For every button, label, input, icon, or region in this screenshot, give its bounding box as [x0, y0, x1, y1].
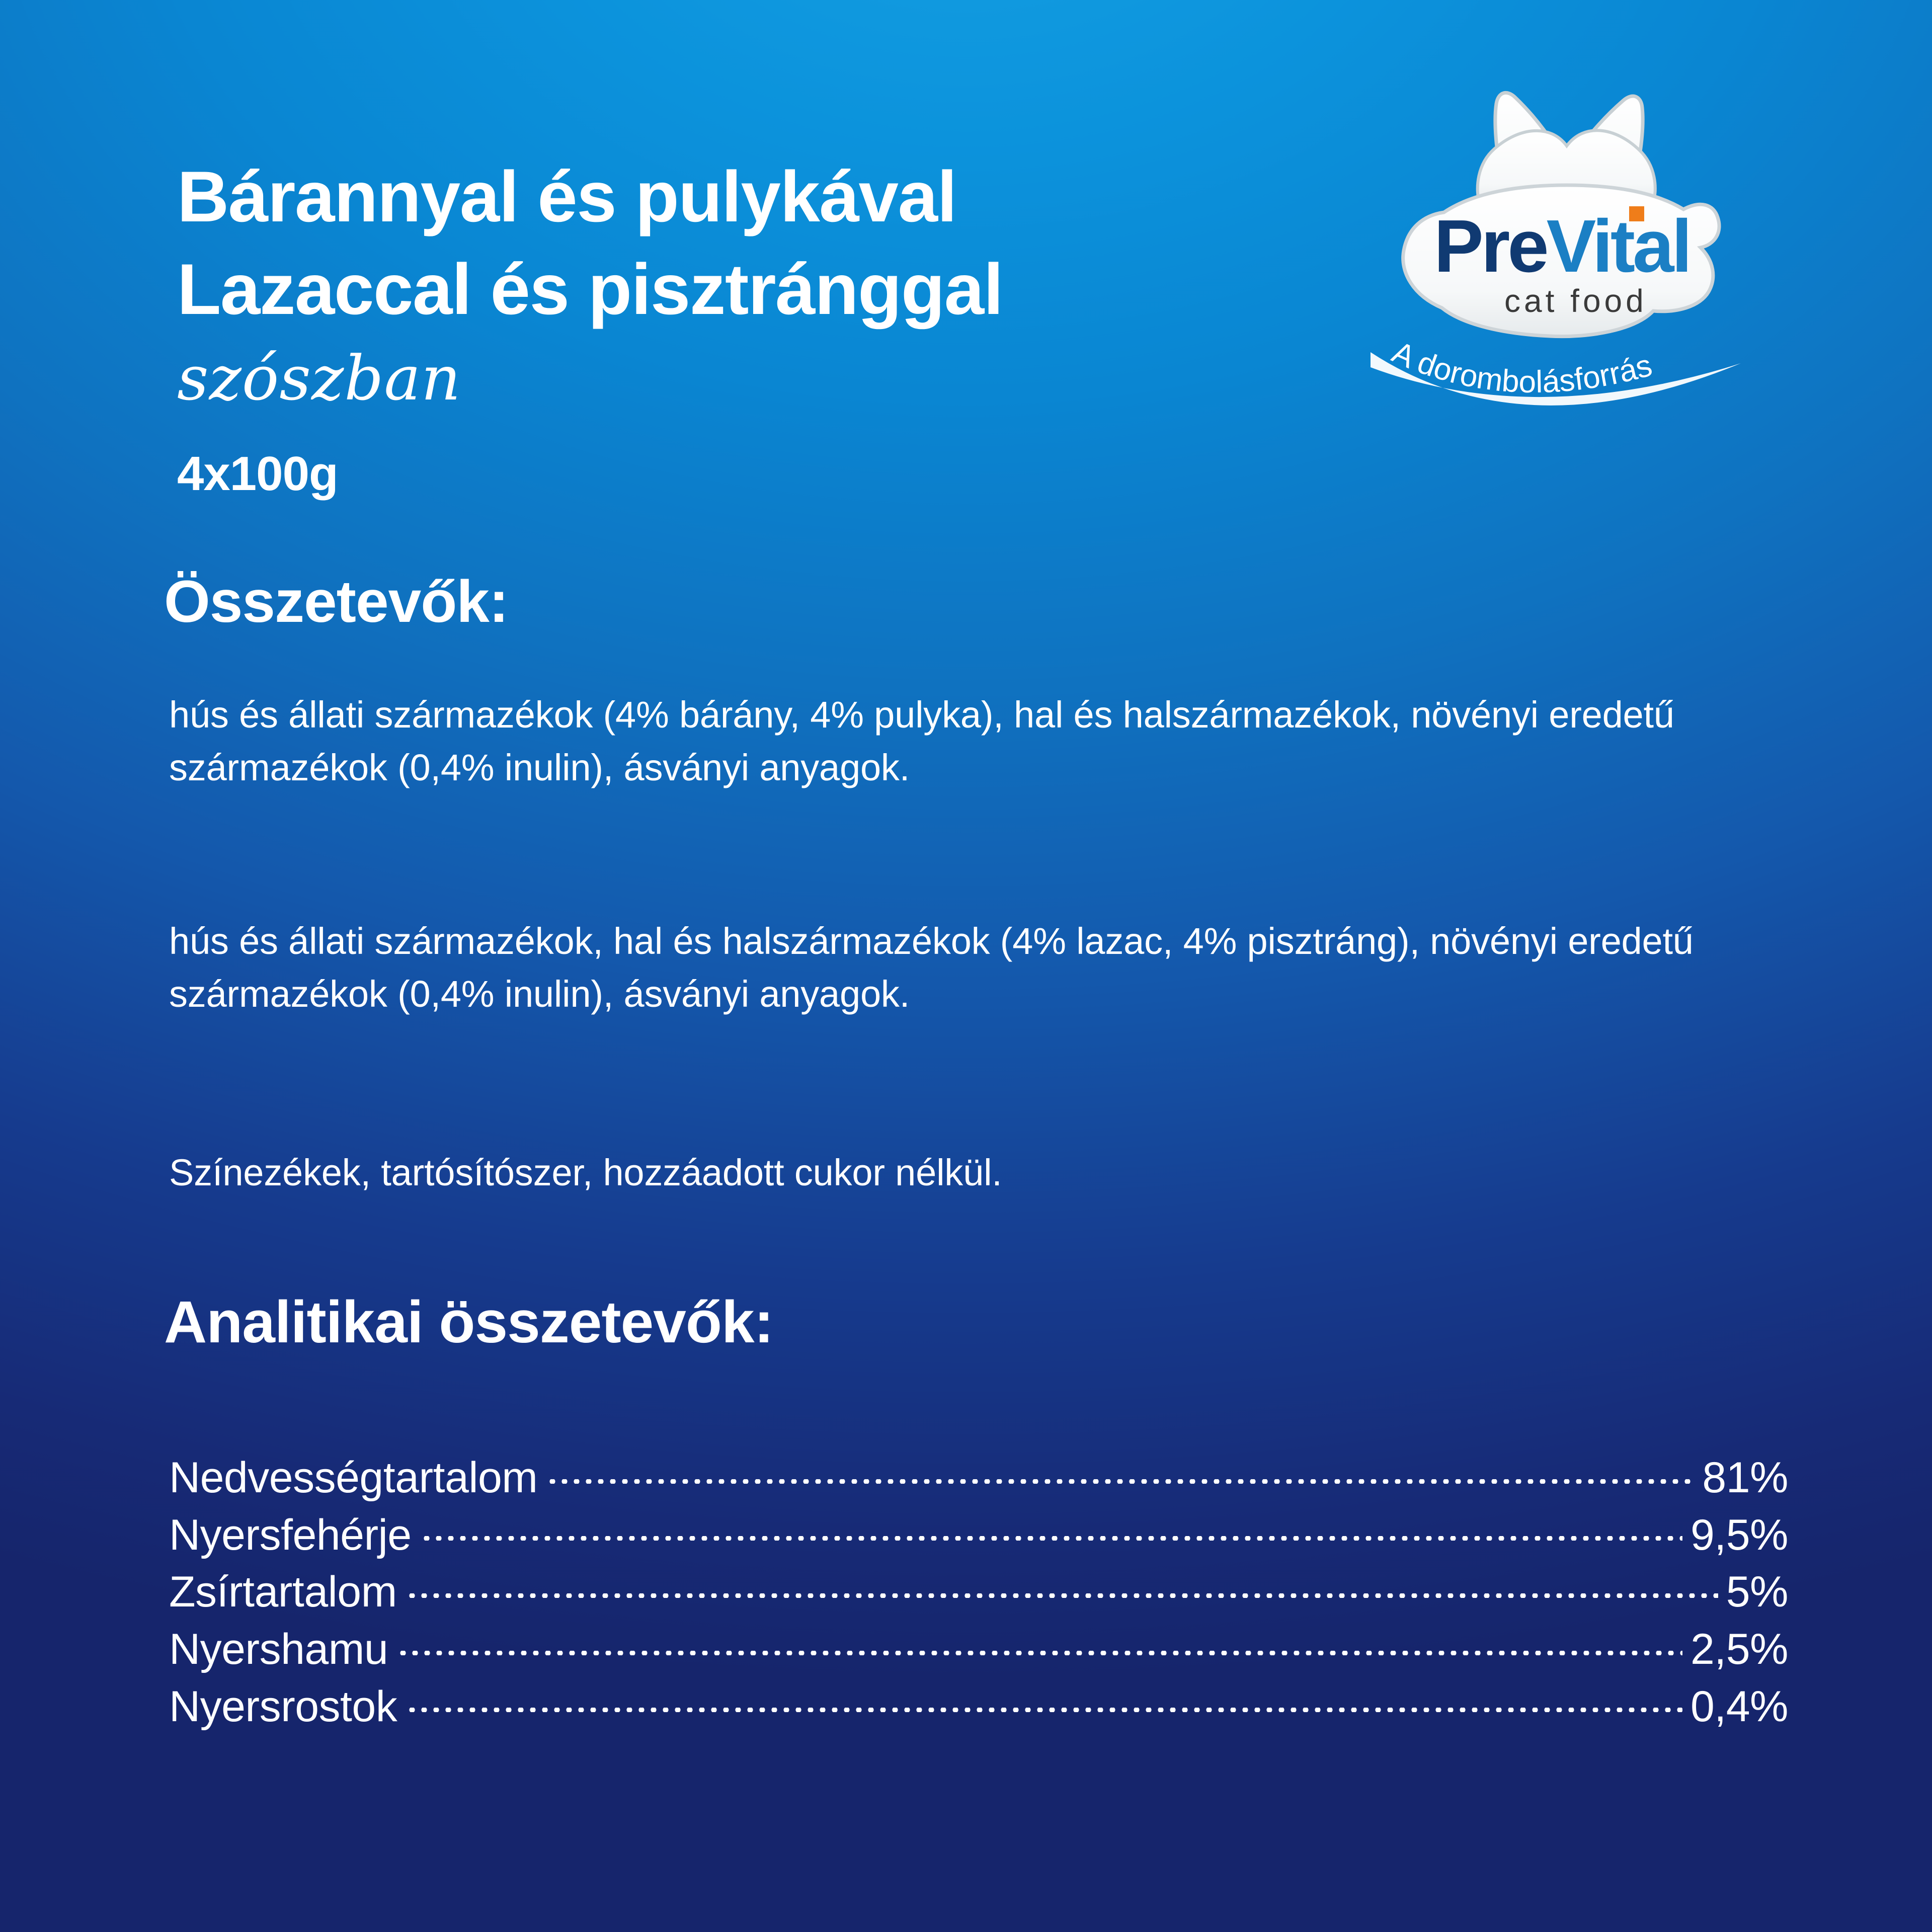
row-value: 9,5% — [1691, 1507, 1788, 1564]
logo-wordmark-pre: PreVital — [1434, 205, 1690, 288]
product-title-line-2: Lazaccal és pisztránggal — [177, 244, 1314, 336]
dot-leader — [421, 1506, 1682, 1550]
logo-accent-dot-icon — [1629, 206, 1644, 221]
no-additives-note: Színezékek, tartósítószer, hozzáadott cu… — [169, 1146, 1718, 1199]
table-row: Nedvességtartalom 81% — [169, 1449, 1788, 1506]
table-row: Nyersrostok 0,4% — [169, 1678, 1788, 1735]
table-row: Nyershamu 2,5% — [169, 1621, 1788, 1678]
logo-subtext: cat food — [1504, 283, 1647, 319]
table-row: Nyersfehérje 9,5% — [169, 1506, 1788, 1564]
title-block: Bárannyal és pulykával Lazaccal és piszt… — [177, 151, 1314, 502]
analytical-table: Nedvességtartalom 81% Nyersfehérje 9,5% … — [169, 1449, 1788, 1735]
row-value: 0,4% — [1691, 1678, 1788, 1735]
row-value: 2,5% — [1691, 1621, 1788, 1678]
dot-leader — [397, 1621, 1682, 1664]
row-label: Nyersrostok — [169, 1678, 397, 1735]
table-row: Zsírtartalom 5% — [169, 1563, 1788, 1621]
logo-slogan: A dorombolásforrás — [1387, 335, 1656, 399]
row-label: Nedvességtartalom — [169, 1450, 537, 1506]
package-label: Bárannyal és pulykával Lazaccal és piszt… — [0, 0, 1932, 1932]
net-weight: 4x100g — [177, 446, 1314, 502]
product-subtitle: szószban — [177, 348, 1314, 409]
analytical-heading: Analitikai összetevők: — [164, 1288, 773, 1356]
dot-leader — [406, 1563, 1718, 1606]
prevital-logo: PreVital cat food A dorombolásforrás — [1353, 55, 1776, 448]
ingredients-paragraph-1: hús és állati származékok (4% bárány, 4%… — [169, 688, 1718, 794]
dot-leader — [406, 1678, 1682, 1721]
dot-leader — [546, 1449, 1694, 1492]
row-label: Nyersfehérje — [169, 1507, 412, 1564]
row-label: Zsírtartalom — [169, 1564, 397, 1621]
product-title-line-1: Bárannyal és pulykával — [177, 151, 1314, 244]
ingredients-paragraph-2: hús és állati származékok, hal és halszá… — [169, 915, 1718, 1020]
row-label: Nyershamu — [169, 1621, 388, 1678]
ingredients-heading: Összetevők: — [164, 568, 508, 636]
row-value: 81% — [1702, 1450, 1788, 1506]
row-value: 5% — [1726, 1564, 1788, 1621]
